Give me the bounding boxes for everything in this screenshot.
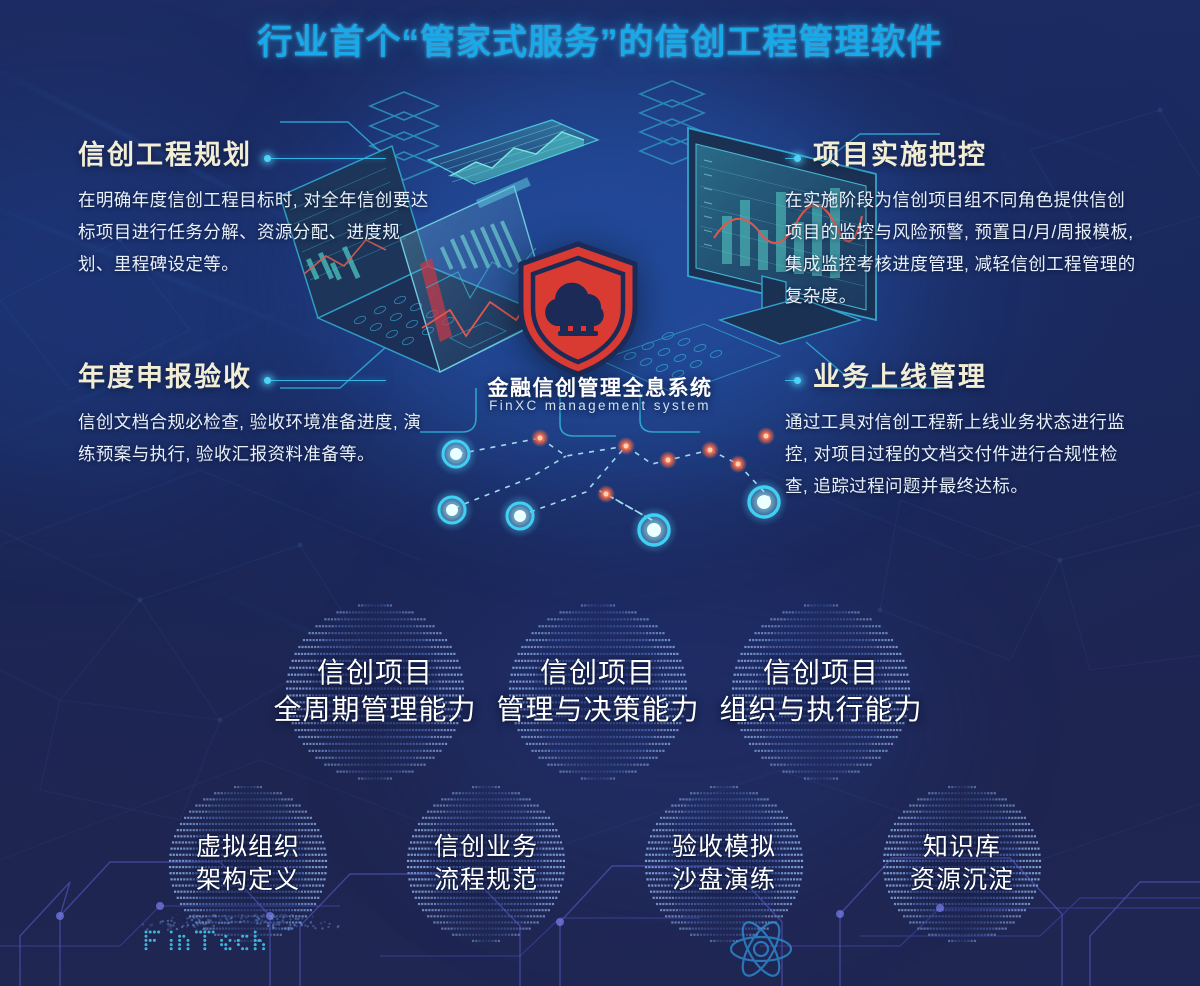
sphere-label-line1: 信创业务 xyxy=(434,831,538,864)
feature-block-acceptance: 年度申报验收 信创文档合规必检查, 验收环境准备进度, 演练预案与执行, 验收汇… xyxy=(78,355,430,470)
connector-line xyxy=(266,158,386,159)
connector-line xyxy=(266,380,386,381)
sphere-label-line1: 知识库 xyxy=(910,831,1014,864)
sphere-label-line1: 虚拟组织 xyxy=(196,831,300,864)
connector-line xyxy=(785,158,799,159)
feature-title: 信创工程规划 xyxy=(78,133,252,172)
sphere-label-line2: 管理与决策能力 xyxy=(497,692,700,729)
feature-header-row: 项目实施把控 xyxy=(785,133,1137,184)
sphere-label-line1: 信创项目 xyxy=(274,655,477,692)
sphere-label-line2: 沙盘演练 xyxy=(672,864,776,897)
feature-title: 年度申报验收 xyxy=(78,355,252,394)
connector-line xyxy=(785,380,799,381)
sphere-label-line2: 组织与执行能力 xyxy=(720,692,923,729)
feature-body: 通过工具对信创工程新上线业务状态进行监控, 对项目过程的文档交付件进行合规性检查… xyxy=(785,406,1137,502)
feature-body: 在明确年度信创工程目标时, 对全年信创要达标项目进行任务分解、资源分配、进度规划… xyxy=(78,184,430,280)
sphere-label-line2: 架构定义 xyxy=(196,864,300,897)
sphere-label-line2: 资源沉淀 xyxy=(910,864,1014,897)
junction-dot-group xyxy=(531,427,775,503)
fintech-dot-matrix-watermark xyxy=(140,914,340,974)
capability-sphere: 信创项目 管理与决策能力 xyxy=(508,602,688,782)
feature-header-row: 信创工程规划 xyxy=(78,133,430,184)
feature-block-implementation: 项目实施把控 在实施阶段为信创项目组不同角色提供信创项目的监控与风险预警, 预置… xyxy=(785,133,1137,312)
module-sphere: 信创业务 流程规范 xyxy=(406,784,566,944)
poster-canvas: 行业首个“管家式服务”的信创工程管理软件 xyxy=(0,0,1200,986)
feature-title: 项目实施把控 xyxy=(813,133,987,172)
module-sphere: 知识库 资源沉淀 xyxy=(882,784,1042,944)
feature-body: 信创文档合规必检查, 验收环境准备进度, 演练预案与执行, 验收汇报资料准备等。 xyxy=(78,406,430,470)
sphere-label-line2: 全周期管理能力 xyxy=(274,692,477,729)
sphere-label-line1: 信创项目 xyxy=(720,655,923,692)
feature-title: 业务上线管理 xyxy=(813,355,987,394)
sphere-label-line2: 流程规范 xyxy=(434,864,538,897)
sphere-label-line1: 信创项目 xyxy=(497,655,700,692)
atom-orbit-icon xyxy=(718,906,804,986)
feature-block-planning: 信创工程规划 在明确年度信创工程目标时, 对全年信创要达标项目进行任务分解、资源… xyxy=(78,133,430,280)
page-title: 行业首个“管家式服务”的信创工程管理软件 xyxy=(0,14,1200,65)
feature-header-row: 年度申报验收 xyxy=(78,355,430,406)
capability-sphere: 信创项目 全周期管理能力 xyxy=(285,602,465,782)
capability-sphere: 信创项目 组织与执行能力 xyxy=(731,602,911,782)
feature-body: 在实施阶段为信创项目组不同角色提供信创项目的监控与风险预警, 预置日/月/周报模… xyxy=(785,184,1137,312)
sphere-label-line1: 验收模拟 xyxy=(672,831,776,864)
feature-header-row: 业务上线管理 xyxy=(785,355,1137,406)
feature-block-golive: 业务上线管理 通过工具对信创工程新上线业务状态进行监控, 对项目过程的文档交付件… xyxy=(785,355,1137,502)
shield-cloud-chart-icon xyxy=(503,238,653,378)
